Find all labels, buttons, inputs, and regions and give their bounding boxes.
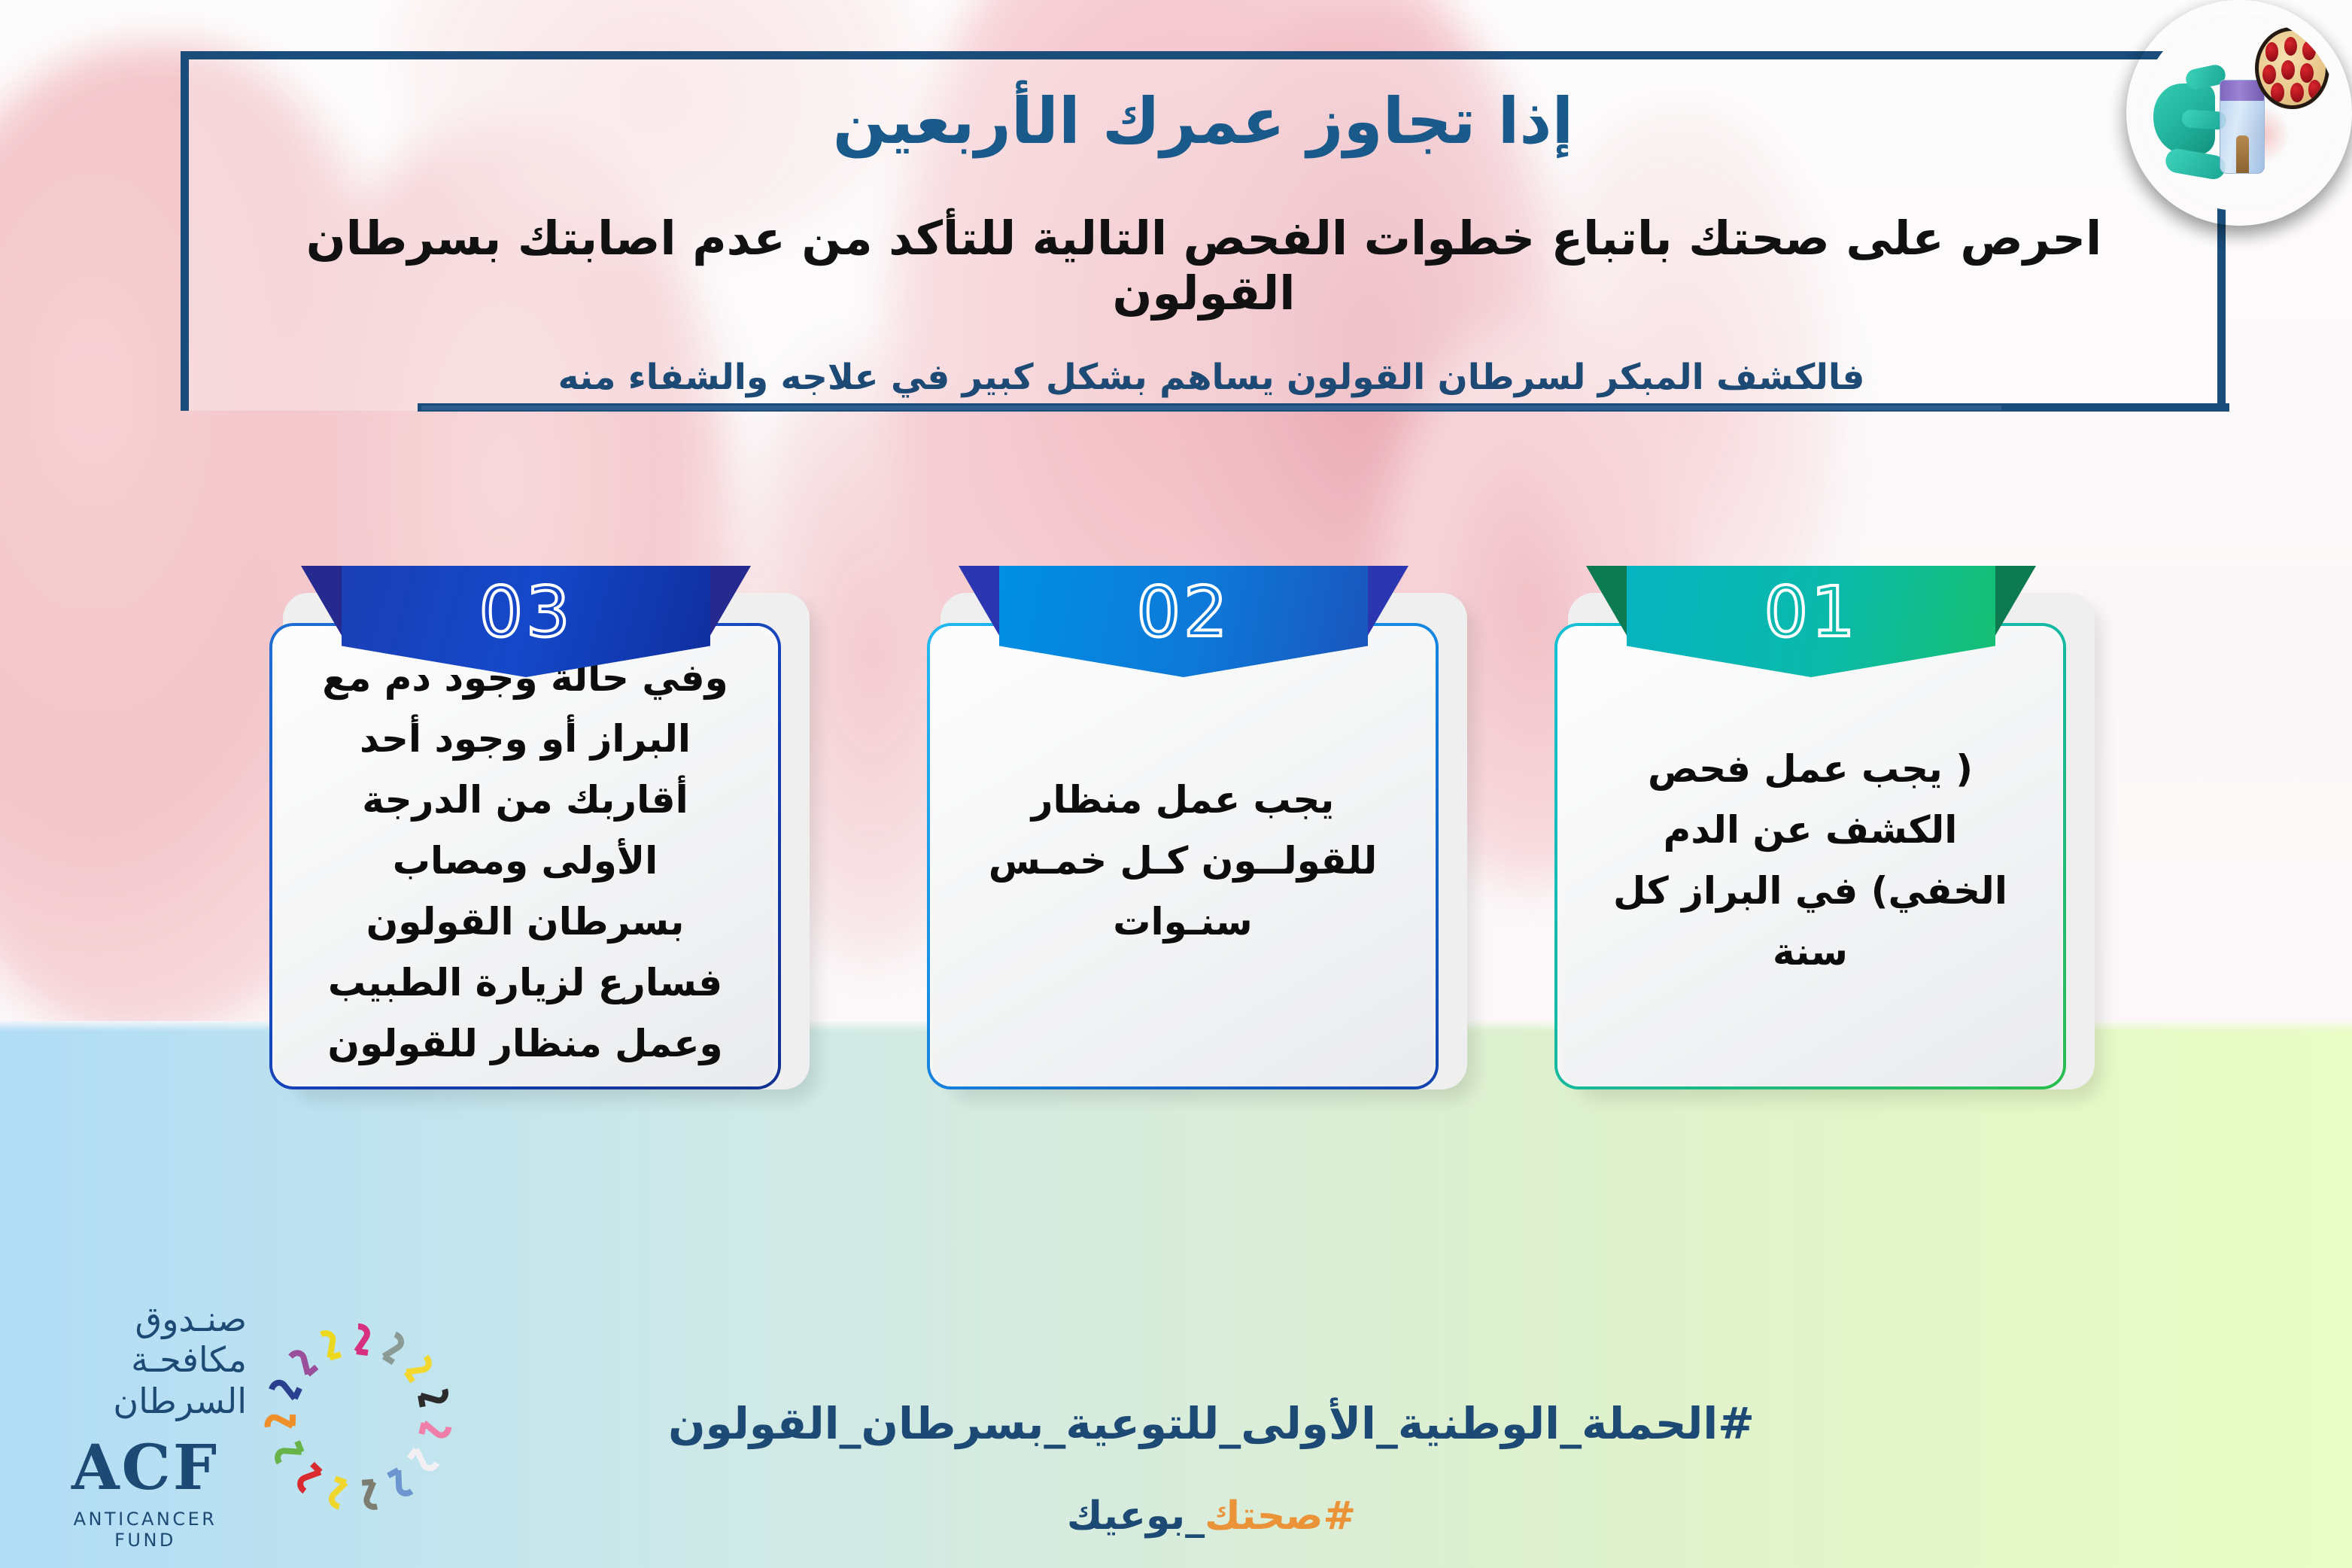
acf-logo: صنـدوق مكافحـة السرطان ACF ANTICANCER FU… xyxy=(36,1294,473,1550)
step-number-01: 01 xyxy=(1764,572,1858,652)
hashtag-campaign: #الحملة_الوطنية_الأولى_للتوعية_بسرطان_ال… xyxy=(421,1398,2001,1449)
ribbon-loop-icon xyxy=(330,1478,346,1506)
step-card-03: 03 وفي حالة وجود دم مع البراز أو وجود أح… xyxy=(269,566,811,1092)
logo-english-name: ANTICANCER FUND xyxy=(44,1509,247,1551)
step-card-02: 02 يجب عمل منظار للقولــون كـل خمـس سنـو… xyxy=(927,566,1469,1092)
step-ribbon-01: 01 xyxy=(1627,566,1995,677)
stool-sample-cup-icon xyxy=(2126,0,2352,226)
ribbon-loop-icon xyxy=(271,1380,299,1399)
ribbon-face: 01 xyxy=(1627,566,1995,677)
step-ribbon-03: 03 xyxy=(342,566,710,677)
step-text-03: وفي حالة وجود دم مع البراز أو وجود أحد أ… xyxy=(313,648,737,1074)
hashtag-slogan: #صحتك_بوعيك xyxy=(421,1494,2001,1539)
logo-arabic-name: صنـدوق مكافحـة السرطان ACF ANTICANCER FU… xyxy=(44,1299,247,1551)
step-text-01: ( يجب عمل فحص الكشف عن الدم الخفي) في ال… xyxy=(1598,739,2022,983)
ribbon-loop-icon xyxy=(275,1442,303,1464)
hashtag-slogan-orange: #صحتك xyxy=(1205,1494,1356,1539)
microscope-blood-cells-icon xyxy=(2255,27,2329,109)
ribbon-loop-icon xyxy=(357,1326,368,1353)
step-ribbon-02: 02 xyxy=(999,566,1368,677)
ribbon-loop-icon xyxy=(409,1448,438,1471)
card-inner: يجب عمل منظار للقولــون كـل خمـس سنـوات xyxy=(930,626,1436,1086)
card-inner: ( يجب عمل فحص الكشف عن الدم الخفي) في ال… xyxy=(1557,626,2063,1086)
awareness-ribbon-ring-icon xyxy=(245,1305,471,1530)
step-number-03: 03 xyxy=(479,572,573,652)
logo-line-2: مكافحـة xyxy=(44,1339,247,1380)
ribbon-face: 02 xyxy=(999,566,1368,677)
card-border: يجب عمل منظار للقولــون كـل خمـس سنـوات xyxy=(927,623,1439,1089)
ribbon-loop-icon xyxy=(296,1464,321,1492)
hashtag-slogan-navy: _بوعيك xyxy=(1067,1494,1205,1539)
ribbon-loop-icon xyxy=(406,1356,433,1382)
logo-line-3: السرطان xyxy=(44,1381,247,1421)
specimen-cup-icon xyxy=(2220,80,2265,174)
ribbon-loop-icon xyxy=(383,1334,404,1363)
step-card-01: 01 ( يجب عمل فحص الكشف عن الدم الخفي) في… xyxy=(1554,566,2096,1092)
ribbon-loop-icon xyxy=(421,1423,448,1437)
card-inner: وفي حالة وجود دم مع البراز أو وجود أحد أ… xyxy=(272,626,778,1086)
ribbon-loop-icon xyxy=(290,1349,317,1375)
ribbon-face: 03 xyxy=(342,566,710,677)
ribbon-loop-icon xyxy=(419,1388,448,1407)
card-border: ( يجب عمل فحص الكشف عن الدم الخفي) في ال… xyxy=(1554,623,2066,1089)
page-tagline: فالكشف المبكر لسرطان القولون يساهم بشكل … xyxy=(421,357,2001,410)
ribbon-loop-icon xyxy=(362,1481,378,1509)
ribbon-loop-icon xyxy=(388,1469,413,1497)
ribbon-loop-icon xyxy=(320,1330,341,1359)
logo-line-1: صنـدوق xyxy=(44,1299,247,1339)
step-text-02: يجب عمل منظار للقولــون كـل خمـس سنـوات xyxy=(971,770,1395,953)
ribbon-loop-icon xyxy=(266,1415,293,1429)
card-border: وفي حالة وجود دم مع البراز أو وجود أحد أ… xyxy=(269,623,781,1089)
infographic-poster: إذا تجاوز عمرك الأربعين احرص على صحتك با… xyxy=(0,0,2352,1568)
page-title: إذا تجاوز عمرك الأربعين xyxy=(181,84,2226,158)
logo-acronym: ACF xyxy=(44,1432,247,1504)
step-number-02: 02 xyxy=(1136,572,1230,652)
page-subtitle: احرص على صحتك باتباع خطوات الفحص التالية… xyxy=(226,211,2182,321)
